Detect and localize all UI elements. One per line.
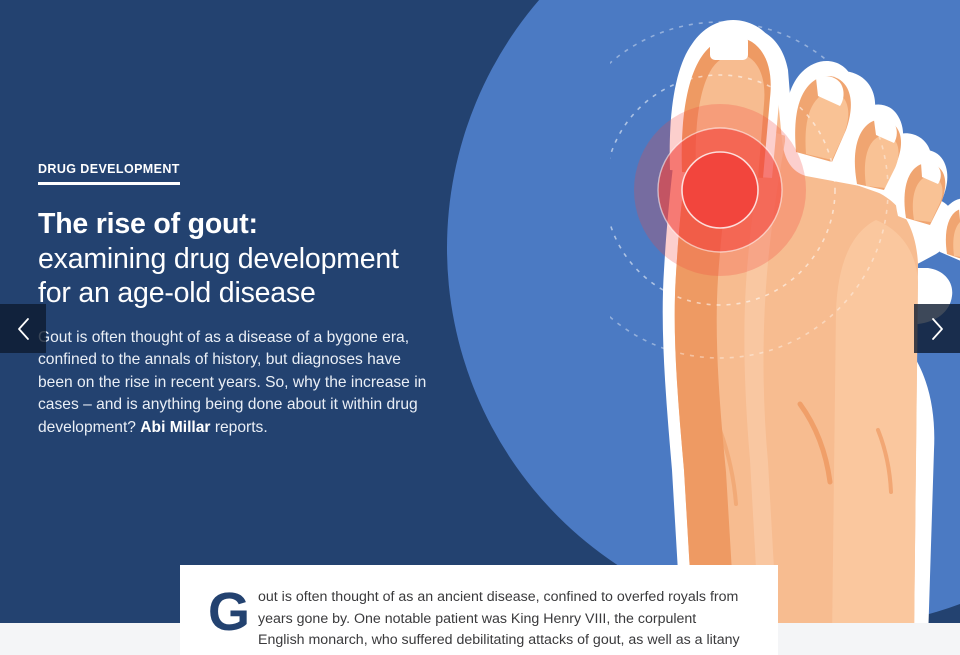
headline-line-3: for an age-old disease (38, 277, 316, 309)
drop-cap: G (208, 589, 250, 635)
chevron-right-icon (930, 317, 945, 341)
headline-line-1: The rise of gout: (38, 208, 258, 240)
category-kicker[interactable]: DRUG DEVELOPMENT (38, 162, 180, 185)
author-byline: Abi Millar (140, 419, 210, 436)
carousel-next-button[interactable] (914, 304, 960, 353)
hero-text-block: DRUG DEVELOPMENT The rise of gout: exami… (38, 160, 438, 439)
gout-foot-illustration (610, 0, 960, 623)
carousel-prev-button[interactable] (0, 304, 46, 353)
standfirst-tail: reports. (210, 419, 267, 436)
article-paragraph: out is often thought of as an ancient di… (208, 587, 744, 655)
chevron-left-icon (16, 317, 31, 341)
standfirst: Gout is often thought of as a disease of… (38, 327, 430, 440)
headline-line-2: examining drug development (38, 243, 399, 275)
page-title: The rise of gout: examining drug develop… (38, 207, 438, 311)
article-body-card: G out is often thought of as an ancient … (180, 565, 778, 655)
hero-banner: DRUG DEVELOPMENT The rise of gout: exami… (0, 0, 960, 623)
